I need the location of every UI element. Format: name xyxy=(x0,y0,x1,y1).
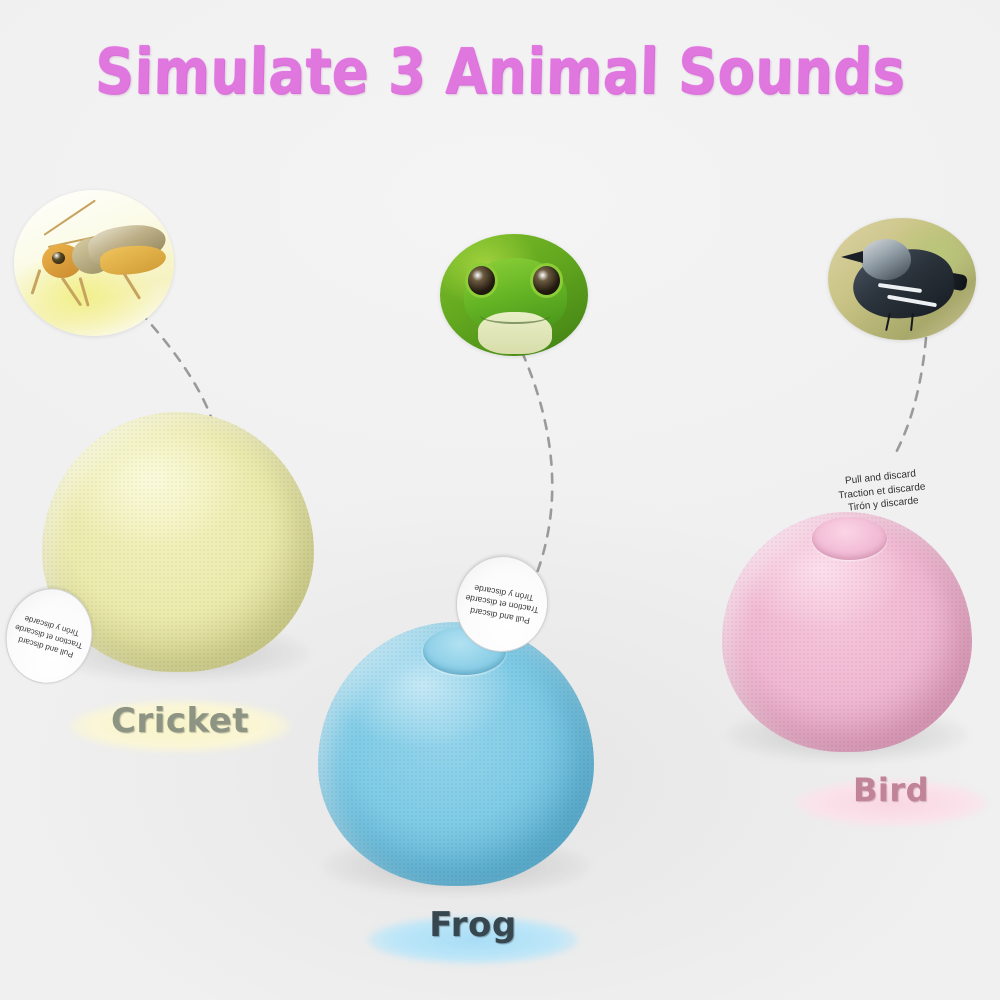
cricket-photo-bubble xyxy=(14,190,174,336)
ball-frog[interactable] xyxy=(318,622,594,886)
cricket-icon xyxy=(14,190,174,336)
label-frog: Frog xyxy=(368,902,578,964)
label-bird: Bird xyxy=(795,768,987,826)
frog-icon xyxy=(440,234,588,356)
label-cricket: Cricket xyxy=(70,692,290,754)
bird-icon xyxy=(828,218,976,340)
product-feature-image: Simulate 3 Animal Sounds xyxy=(0,0,1000,1000)
bird-photo-bubble xyxy=(828,218,976,340)
label-frog-text: Frog xyxy=(368,908,578,942)
connector-bird xyxy=(893,338,926,458)
frog-photo-bubble xyxy=(440,234,588,356)
label-bird-text: Bird xyxy=(795,774,987,806)
ball-bird[interactable] xyxy=(722,512,972,752)
label-cricket-text: Cricket xyxy=(70,704,290,738)
